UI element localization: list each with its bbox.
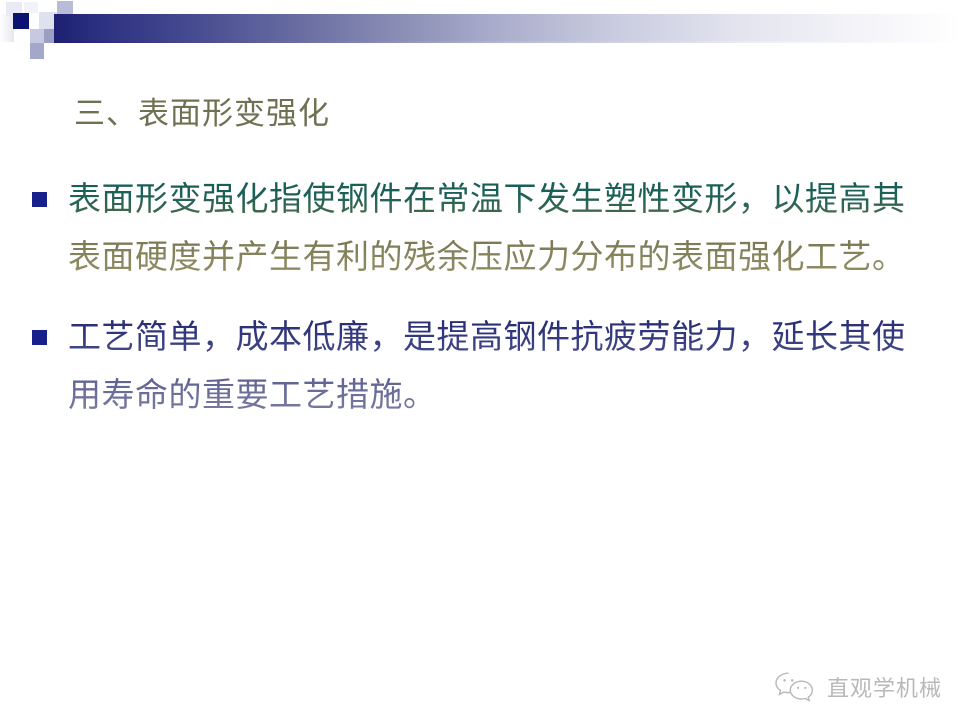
wechat-icon bbox=[773, 670, 817, 704]
list-item-text: 工艺简单，成本低廉，是提高钢件抗疲劳能力，延长其使用寿命的重要工艺措施。 bbox=[68, 308, 932, 424]
slide-canvas: 三、表面形变强化 表面形变强化指使钢件在常温下发生塑性变形，以提高其表面硬度并产… bbox=[0, 0, 960, 720]
list-item-text: 表面形变强化指使钢件在常温下发生塑性变形，以提高其表面硬度并产生有利的残余压应力… bbox=[68, 170, 932, 286]
slide-body: 表面形变强化指使钢件在常温下发生塑性变形，以提高其表面硬度并产生有利的残余压应力… bbox=[28, 170, 932, 424]
watermark-label: 直观学机械 bbox=[827, 671, 942, 703]
header-mosaic-square bbox=[29, 13, 39, 29]
header-underline bbox=[54, 41, 960, 43]
list-item: 表面形变强化指使钢件在常温下发生塑性变形，以提高其表面硬度并产生有利的残余压应力… bbox=[28, 170, 932, 286]
header-mosaic-square bbox=[30, 29, 44, 43]
list-item: 工艺简单，成本低廉，是提高钢件抗疲劳能力，延长其使用寿命的重要工艺措施。 bbox=[28, 308, 932, 424]
bullet-square-icon bbox=[32, 330, 47, 345]
watermark: 直观学机械 bbox=[773, 670, 942, 704]
header-mosaic-square bbox=[30, 43, 44, 59]
page-title: 三、表面形变强化 bbox=[74, 92, 330, 136]
bullet-square-icon bbox=[32, 192, 47, 207]
header-decoration bbox=[0, 0, 960, 72]
header-mosaic-square-accent bbox=[13, 13, 29, 29]
header-gradient-bar bbox=[54, 14, 960, 42]
header-mosaic-square bbox=[0, 14, 14, 42]
